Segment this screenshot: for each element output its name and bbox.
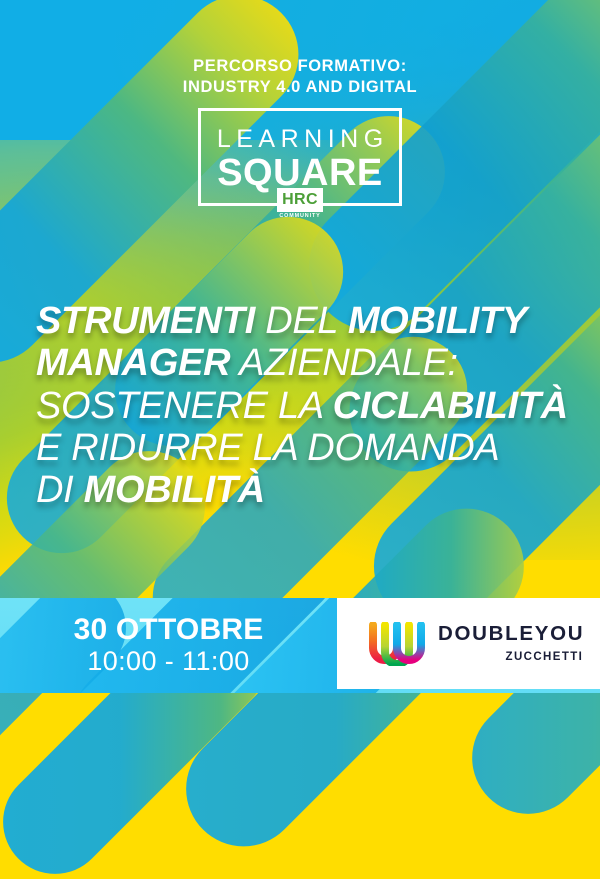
title-seg-strumenti: STRUMENTI bbox=[36, 300, 255, 342]
eyebrow-line-1: PERCORSO FORMATIVO: bbox=[0, 56, 600, 77]
hrc-label: HRC bbox=[282, 192, 318, 208]
title-line-2: MANAGER AZIENDALE: bbox=[36, 342, 576, 384]
title-seg-di: DI bbox=[36, 469, 84, 511]
learning-word: LEARNING bbox=[201, 125, 399, 154]
event-time: 10:00 - 11:00 bbox=[0, 646, 337, 678]
title-line-4: E RIDURRE LA DOMANDA bbox=[36, 427, 576, 469]
title-seg-manager: MANAGER bbox=[36, 342, 230, 384]
title-line-5: DI MOBILITÀ bbox=[36, 469, 576, 511]
title-seg-mobilita: MOBILITÀ bbox=[84, 469, 265, 511]
title-line-1: STRUMENTI DEL MOBILITY bbox=[36, 300, 576, 342]
sponsor-parent: ZUCCHETTI bbox=[506, 652, 584, 664]
title-seg-del: DEL bbox=[255, 300, 348, 342]
title-line-3: SOSTENERE LA CICLABILITÀ bbox=[36, 385, 576, 427]
event-datetime: 30 OTTOBRE 10:00 - 11:00 bbox=[0, 614, 337, 678]
sponsor-name: DOUBLEYOU bbox=[438, 624, 584, 645]
event-date: 30 OTTOBRE bbox=[0, 614, 337, 646]
title-seg-sostenere: SOSTENERE LA bbox=[36, 385, 333, 427]
doubleyou-logo-icon bbox=[369, 622, 425, 666]
eyebrow-line-2: INDUSTRY 4.0 AND DIGITAL bbox=[0, 77, 600, 98]
hrc-community-label: COMMUNITY bbox=[277, 213, 323, 219]
page-title: STRUMENTI DEL MOBILITY MANAGER AZIENDALE… bbox=[36, 300, 576, 512]
title-seg-aziendale: AZIENDALE: bbox=[230, 342, 458, 384]
sponsor-logo-panel: DOUBLEYOU ZUCCHETTI bbox=[337, 598, 600, 689]
title-seg-ridurre: E RIDURRE LA DOMANDA bbox=[36, 427, 499, 469]
event-info-band: 30 OTTOBRE 10:00 - 11:00 bbox=[0, 598, 600, 693]
hrc-logo: HRC bbox=[277, 188, 323, 212]
sponsor-wordmark: DOUBLEYOU ZUCCHETTI bbox=[438, 624, 584, 663]
title-seg-ciclabilita: CICLABILITÀ bbox=[333, 385, 568, 427]
title-seg-mobility: MOBILITY bbox=[348, 300, 527, 342]
promo-poster: PERCORSO FORMATIVO: INDUSTRY 4.0 AND DIG… bbox=[0, 0, 600, 879]
eyebrow-text: PERCORSO FORMATIVO: INDUSTRY 4.0 AND DIG… bbox=[0, 56, 600, 98]
